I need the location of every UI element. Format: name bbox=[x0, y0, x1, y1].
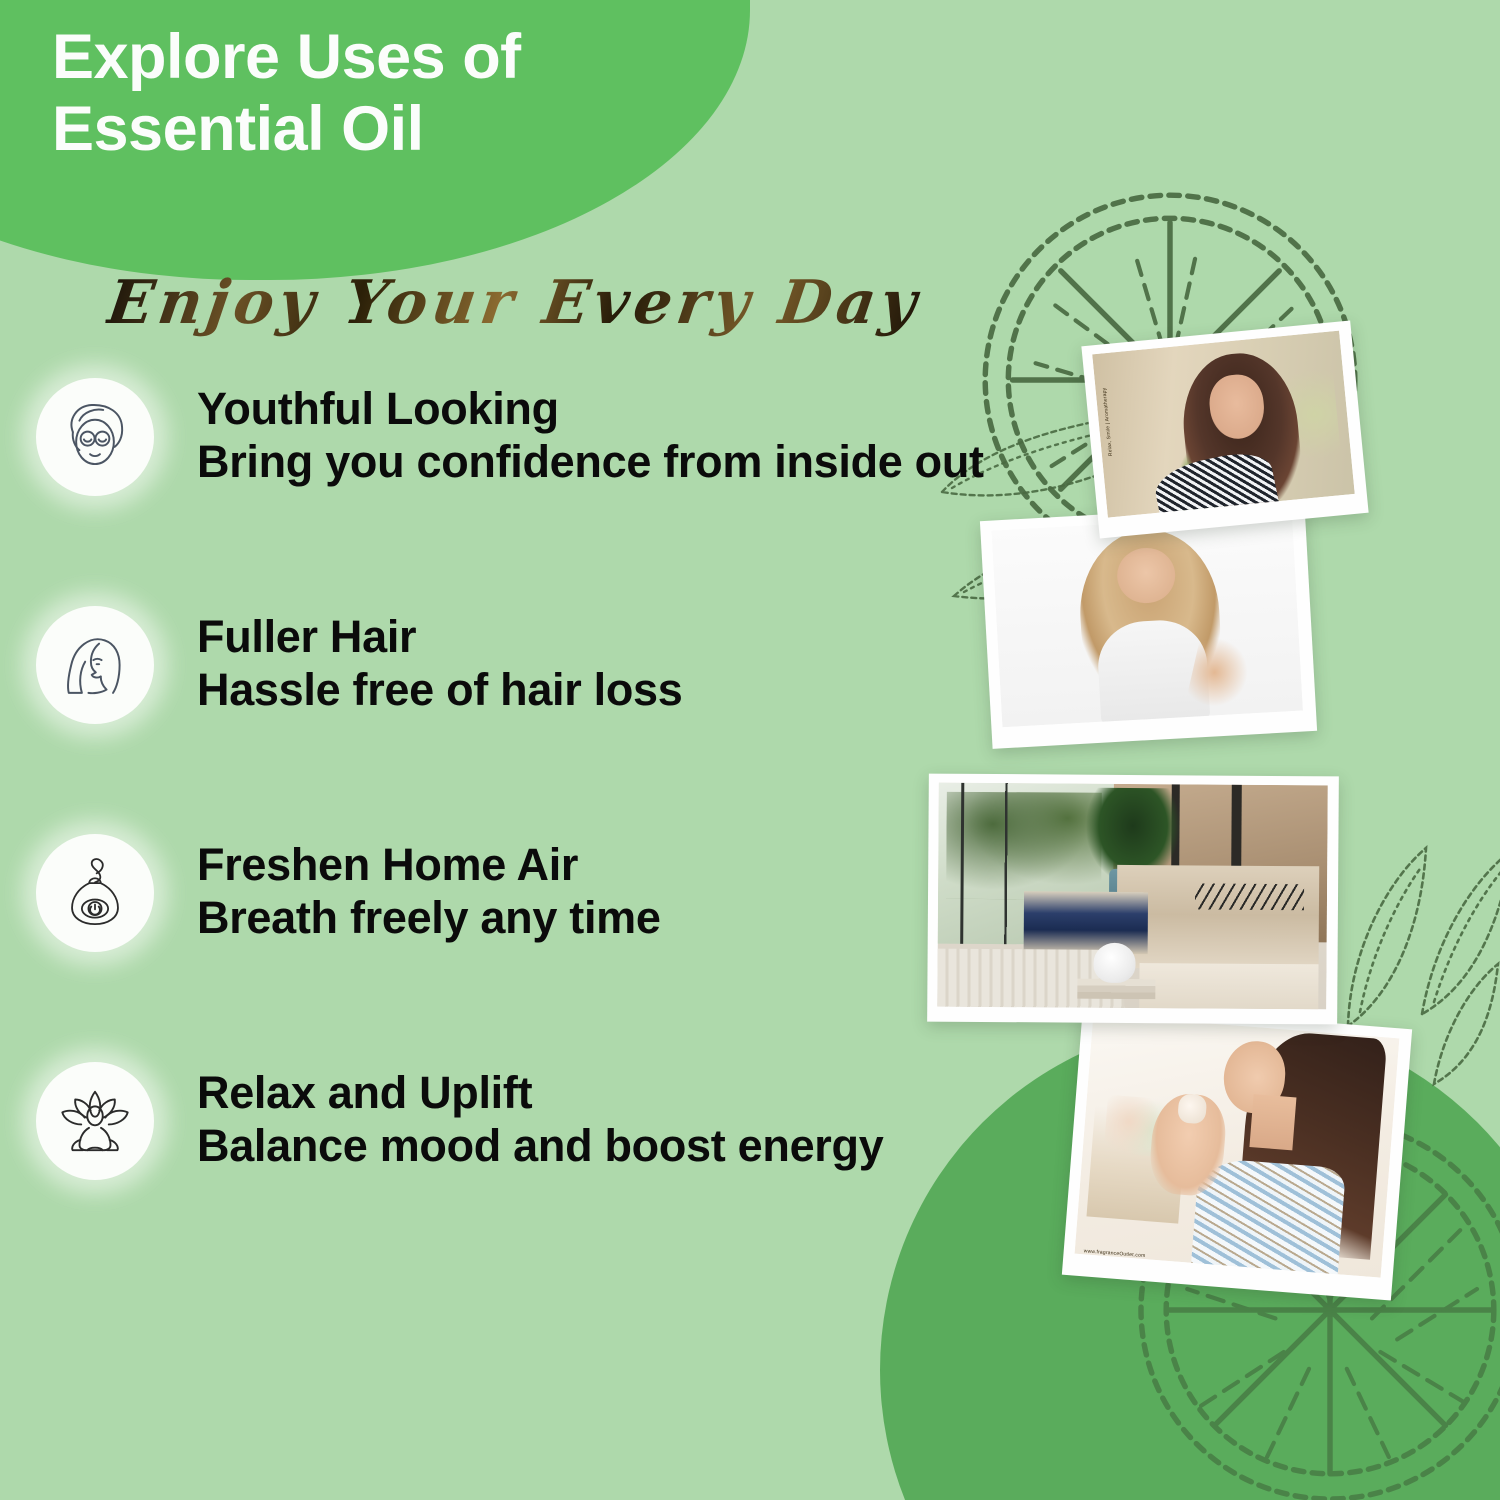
lotus-meditation-icon bbox=[36, 1062, 154, 1180]
long-hair-profile-icon bbox=[36, 606, 154, 724]
page-title-line-2: Essential Oil bbox=[52, 94, 692, 166]
facial-mask-icon bbox=[36, 378, 154, 496]
poster-canvas: www.fragranceOutlet.com bbox=[0, 0, 1500, 1500]
feature-text-relax-and-uplift: Relax and Uplift Balance mood and boost … bbox=[197, 1066, 883, 1172]
feature-subtitle: Hassle free of hair loss bbox=[197, 663, 683, 716]
photo-smiling-woman: Relax, Smile | Aromatherapy bbox=[1081, 321, 1368, 539]
feature-title: Fuller Hair bbox=[197, 610, 683, 663]
feature-title: Freshen Home Air bbox=[197, 838, 661, 891]
feature-list: Youthful Looking Bring you confidence fr… bbox=[0, 374, 1060, 1286]
feature-subtitle: Breath freely any time bbox=[197, 891, 661, 944]
feature-title: Relax and Uplift bbox=[197, 1066, 883, 1119]
tagline-script: Enjoy Your Every Day bbox=[103, 268, 925, 338]
feature-subtitle: Bring you confidence from inside out bbox=[197, 435, 984, 488]
photo-woman-applying-fragrance: www.fragranceOutlet.com bbox=[1062, 1003, 1412, 1300]
feature-row-freshen-home-air: Freshen Home Air Breath freely any time bbox=[0, 830, 1060, 1058]
feature-title: Youthful Looking bbox=[197, 382, 984, 435]
feature-subtitle: Balance mood and boost energy bbox=[197, 1119, 883, 1172]
feature-text-fuller-hair: Fuller Hair Hassle free of hair loss bbox=[197, 610, 683, 716]
page-title: Explore Uses of Essential Oil bbox=[52, 22, 692, 166]
feature-row-relax-and-uplift: Relax and Uplift Balance mood and boost … bbox=[0, 1058, 1060, 1286]
feature-row-fuller-hair: Fuller Hair Hassle free of hair loss bbox=[0, 602, 1060, 830]
page-title-line-1: Explore Uses of bbox=[52, 22, 692, 94]
feature-text-youthful-looking: Youthful Looking Bring you confidence fr… bbox=[197, 382, 984, 488]
feature-text-freshen-home-air: Freshen Home Air Breath freely any time bbox=[197, 838, 661, 944]
feature-row-youthful-looking: Youthful Looking Bring you confidence fr… bbox=[0, 374, 1060, 602]
aroma-diffuser-icon bbox=[36, 834, 154, 952]
